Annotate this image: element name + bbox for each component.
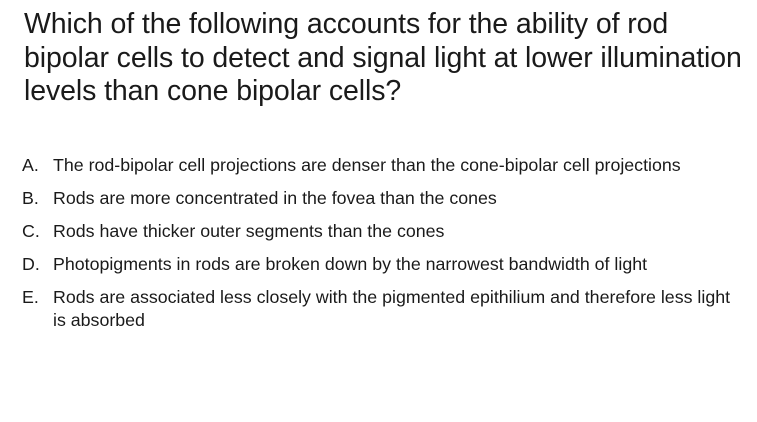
option-marker-d: D. <box>22 253 53 276</box>
answer-option-d[interactable]: D. Photopigments in rods are broken down… <box>22 253 748 276</box>
answer-option-b[interactable]: B. Rods are more concentrated in the fov… <box>22 187 748 210</box>
option-text-c: Rods have thicker outer segments than th… <box>53 220 743 243</box>
answer-options-list: A. The rod-bipolar cell projections are … <box>22 154 748 331</box>
page-title: Which of the following accounts for the … <box>24 8 754 109</box>
option-marker-e: E. <box>22 286 53 309</box>
option-marker-c: C. <box>22 220 53 243</box>
answer-option-a[interactable]: A. The rod-bipolar cell projections are … <box>22 154 748 177</box>
option-text-b: Rods are more concentrated in the fovea … <box>53 187 743 210</box>
question-slide: Which of the following accounts for the … <box>0 0 757 422</box>
answer-option-c[interactable]: C. Rods have thicker outer segments than… <box>22 220 748 243</box>
option-text-e: Rods are associated less closely with th… <box>53 286 743 331</box>
option-text-a: The rod-bipolar cell projections are den… <box>53 154 743 177</box>
option-marker-b: B. <box>22 187 53 210</box>
answer-option-e[interactable]: E. Rods are associated less closely with… <box>22 286 748 331</box>
option-marker-a: A. <box>22 154 53 177</box>
option-text-d: Photopigments in rods are broken down by… <box>53 253 743 276</box>
